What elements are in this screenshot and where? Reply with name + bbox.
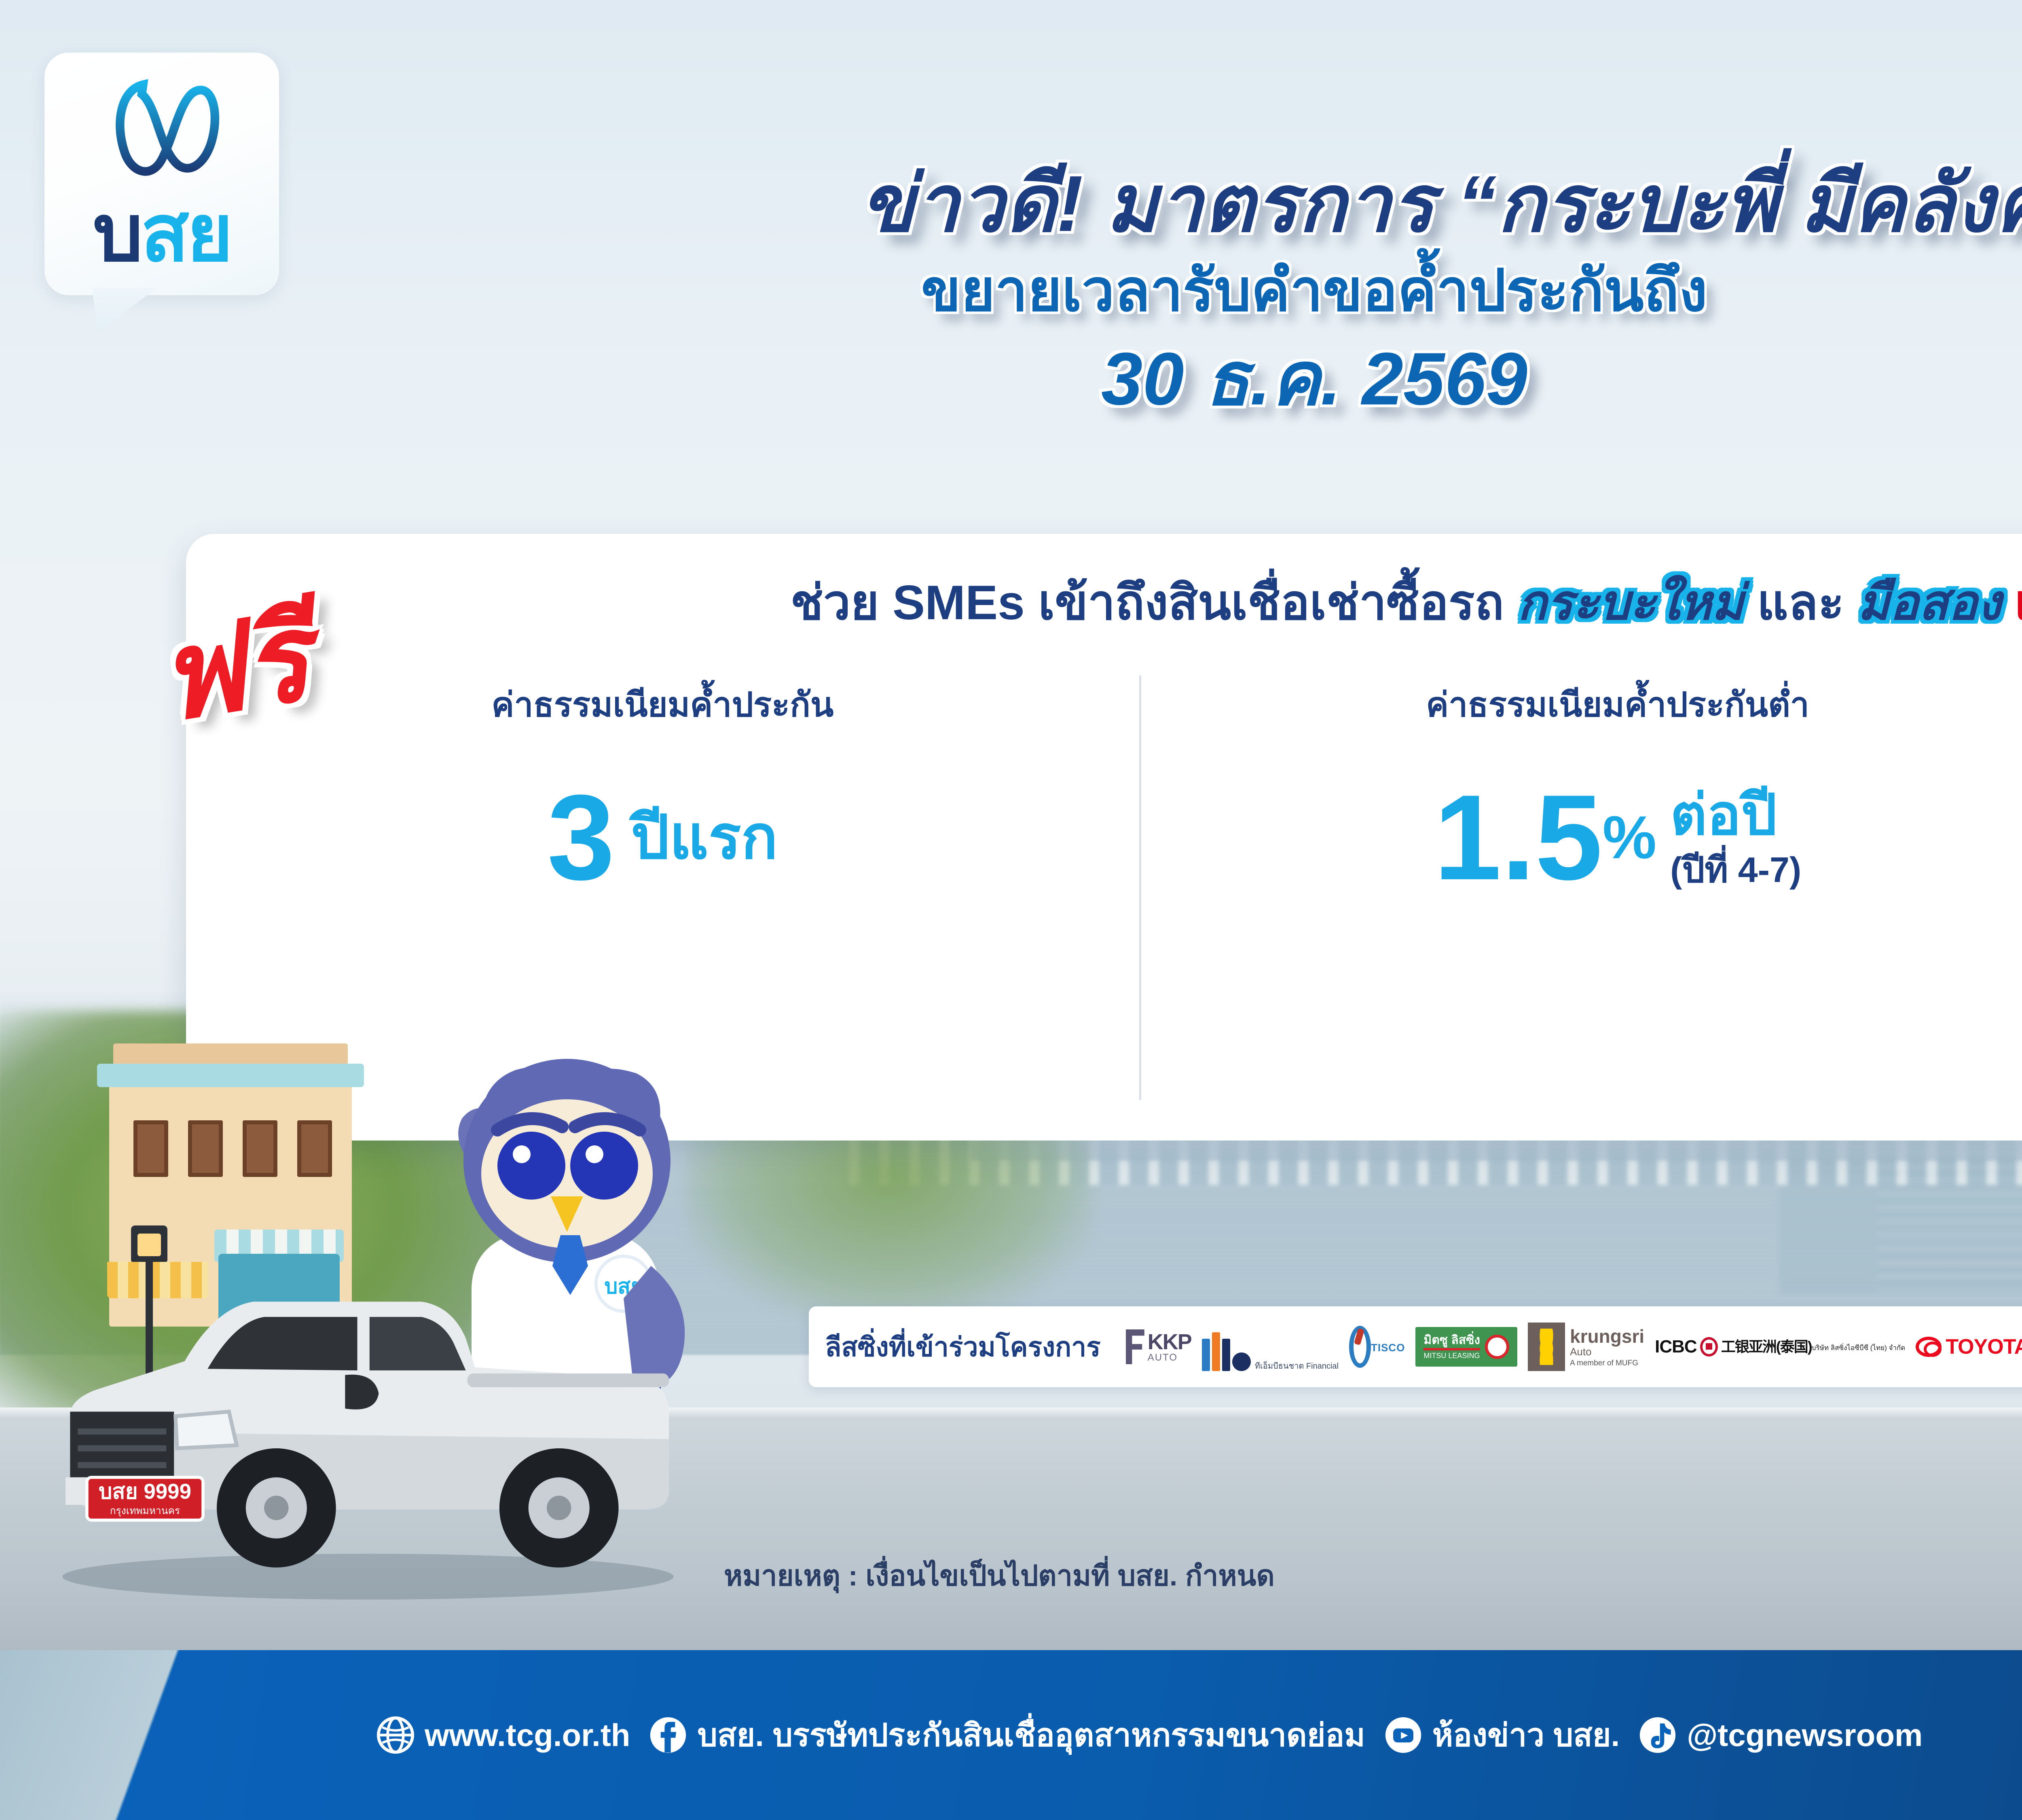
logo-char-2: สย [141,189,231,277]
benefit-2-value: 1.5 [1434,783,1603,892]
icbc-seal-icon [1700,1337,1718,1357]
partner-logo-mitsu: มิตซู ลิสซิ่ง MITSU LEASING [1415,1323,1517,1371]
footer-website-label: www.tcg.or.th [425,1717,630,1754]
krungsri-note: A member of MUFG [1570,1359,1644,1367]
footer-item-website[interactable]: www.tcg.or.th [376,1716,630,1754]
truck-plate-province: กรุงเทพมหานคร [110,1505,180,1517]
kkp-mark-icon [1126,1329,1144,1364]
brand-logo-wordmark: บสย [93,194,231,273]
lead-part-3: เพื่อใช้ในเชิงพาณิชย์ [2001,576,2022,630]
footer-item-tiktok[interactable]: @tcgnewsroom [1638,1716,1923,1754]
ttb-mark-icon [1202,1332,1251,1371]
footer-facebook-label: บสย. บรรษัทประกันสินเชื่ออุตสาหกรรมขนาดย… [697,1710,1365,1760]
footer-item-facebook[interactable]: บสย. บรรษัทประกันสินเชื่ออุตสาหกรรมขนาดย… [649,1710,1365,1760]
partners-label: ลีสซิ่งที่เข้าร่วมโครงการ [825,1326,1101,1368]
tcg-infinity-logo-icon [95,71,228,192]
logo-char-1: บ [93,189,141,277]
footer-bar: www.tcg.or.th บสย. บรรษัทประกันสินเชื่ออ… [0,1650,2022,1820]
partner-logo-icbc: ICBC 工银亚洲(泰国) บริษัท ลิสซิ่งไอซีบีซี (ไท… [1655,1323,1905,1371]
globe-icon [376,1716,415,1754]
toyota-mark-icon [1916,1337,1942,1357]
icbc-note: บริษัท ลิสซิ่งไอซีบีซี (ไทย) จำกัด [1812,1344,1906,1352]
benefit-column-2: ค่าธรรมเนียมค้ำประกันต่ำ 1.5 % ต่อปี (ปี… [1139,675,2022,1100]
tiktok-icon [1638,1716,1677,1754]
pickup-truck-photo: บสย 9999 กรุงเทพมหานคร [24,1246,712,1610]
headline-main: ข่าวดี! มาตรการ “กระบะพี่ มีคลังค้ำ” [505,162,2022,246]
youtube-icon [1384,1716,1423,1754]
benefit-1-value: 3 [547,783,615,892]
benefit-2-note: (ปีที่ 4-7) [1670,852,1801,888]
poster-canvas: บสย ข่าวดี! มาตรการ “กระบะพี่ มีคลังค้ำ”… [0,0,2022,1820]
partner-logo-tisco: TISCO [1349,1323,1405,1371]
truck-plate-number: บสย 9999 [99,1480,191,1504]
lead-part-1: ช่วย SMEs เข้าถึงสินเชื่อเช่าซื้อรถ [791,576,1518,630]
kkp-name: KKP [1148,1331,1191,1353]
lead-highlight-used: มือสอง [1857,576,2001,630]
lead-part-2: และ [1743,576,1857,630]
tisco-name: TISCO [1371,1342,1405,1353]
kkp-sub: AUTO [1148,1353,1191,1363]
krungsri-name: krungsri [1570,1327,1644,1346]
disclaimer-note: หมายเหตุ : เงื่อนไขเป็นไปตามที่ บสย. กำห… [724,1553,1275,1598]
benefit-1-body: 3 ปีแรก [186,736,1139,938]
benefit-1-title: ค่าธรรมเนียมค้ำประกัน [186,688,1139,722]
headline-sub: ขยายเวลารับคำขอค้ำประกันถึง [505,259,2022,323]
ttb-sub: ทีเอ็มบีธนชาต Financial [1255,1362,1339,1371]
benefit-2-title: ค่าธรรมเนียมค้ำประกันต่ำ [1141,688,2022,722]
benefit-2-unit: ต่อปี [1670,787,1777,843]
partners-strip: ลีสซิ่งที่เข้าร่วมโครงการ KKP AUTO ทีเอ็… [809,1306,2022,1387]
brand-logo-card: บสย [44,53,279,295]
footer-item-youtube[interactable]: ห้องข่าว บสย. [1384,1710,1620,1760]
mitsu-sub: MITSU LEASING [1423,1352,1480,1360]
benefit-2-body: 1.5 % ต่อปี (ปีที่ 4-7) [1141,736,2022,938]
mitsu-seal-icon [1485,1335,1509,1359]
partner-logo-kkp: KKP AUTO [1126,1323,1191,1371]
icbc-name: ICBC [1655,1337,1697,1357]
facebook-icon [649,1716,687,1754]
krungsri-mark-icon [1528,1323,1565,1371]
toyota-name: TOYOTA [1946,1336,2022,1357]
hero-scene: บสย [0,1011,829,1658]
partner-logo-toyota: TOYOTA LEASING THAILAND [1916,1323,2022,1371]
headline-date: 30 ธ.ค. 2569 [505,340,2022,418]
tisco-mark-icon [1349,1326,1371,1368]
benefit-2-percent: % [1603,807,1656,868]
footer-tiktok-label: @tcgnewsroom [1687,1717,1923,1754]
partner-logo-krungsri: krungsri Auto A member of MUFG [1528,1323,1644,1371]
krungsri-sub: Auto [1570,1346,1644,1357]
icbc-sub: 工银亚洲(泰国) [1721,1339,1812,1355]
free-stamp: ฟรี [149,596,317,739]
mitsu-name: มิตซู ลิสซิ่ง [1423,1333,1480,1350]
lead-highlight-new: กระบะใหม่ [1517,576,1743,630]
partner-logo-ttb: ทีเอ็มบีธนชาต Financial [1202,1323,1339,1371]
offer-lead-line: ช่วย SMEs เข้าถึงสินเชื่อเช่าซื้อรถ กระบ… [186,578,2022,627]
benefit-1-unit: ปีแรก [631,807,778,868]
footer-youtube-label: ห้องข่าว บสย. [1432,1710,1620,1760]
